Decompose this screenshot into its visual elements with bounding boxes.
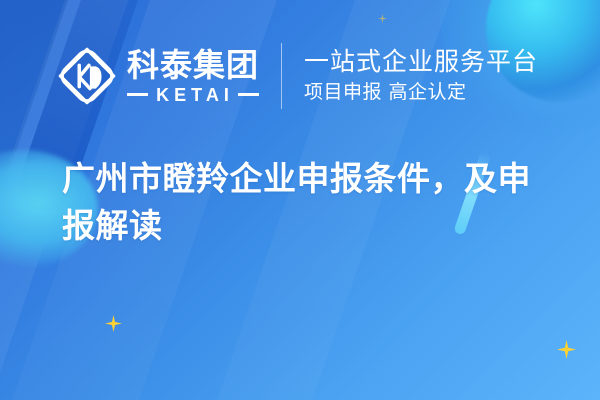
sparkle-icon	[105, 315, 122, 332]
logo-dash-left	[127, 93, 148, 96]
banner-header: 科泰集团 KETAI 一站式企业服务平台 项目申报 高企认定	[0, 38, 600, 114]
kd-diamond-logo-icon	[56, 45, 118, 107]
tagline-block: 一站式企业服务平台 项目申报 高企认定	[304, 48, 538, 104]
header-divider	[281, 43, 282, 109]
sparkle-icon	[378, 14, 387, 23]
brand-logo[interactable]: 科泰集团 KETAI	[56, 45, 259, 107]
logo-english-row: KETAI	[127, 86, 259, 104]
logo-dash-right	[238, 93, 259, 96]
promo-banner: 科泰集团 KETAI 一站式企业服务平台 项目申报 高企认定 广州市瞪羚企业申报…	[0, 0, 600, 400]
logo-chinese-name: 科泰集团	[127, 49, 259, 81]
sparkle-icon	[557, 340, 576, 359]
logo-wordmark: 科泰集团 KETAI	[127, 49, 259, 104]
logo-english-name: KETAI	[156, 86, 234, 104]
page-title: 广州市瞪羚企业申报条件，及申报解读	[62, 156, 562, 250]
tagline-main-text: 一站式企业服务平台	[304, 48, 538, 77]
tagline-sub-text: 项目申报 高企认定	[304, 80, 538, 105]
